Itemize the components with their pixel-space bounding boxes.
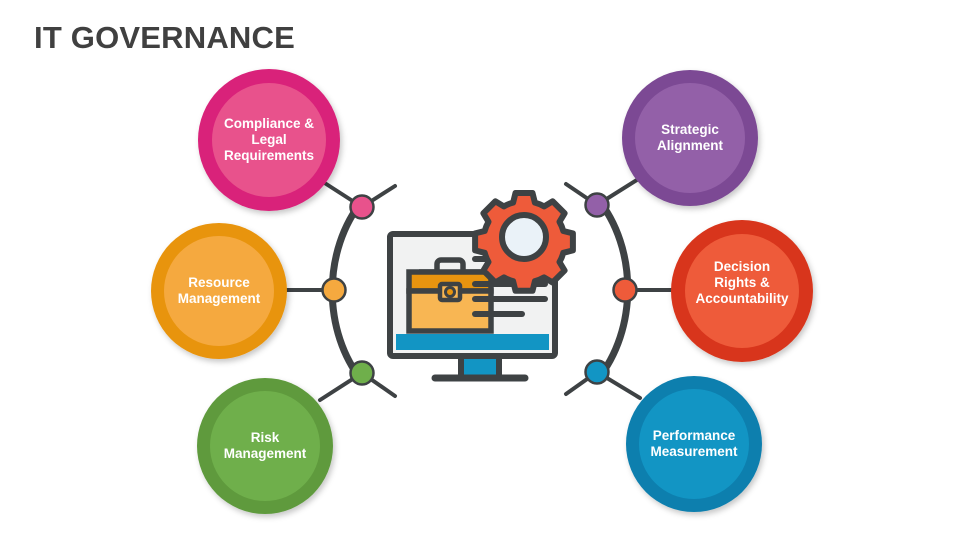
dot-compliance[interactable] bbox=[351, 196, 374, 219]
node-decision-rights-accountability[interactable] bbox=[671, 220, 813, 362]
dot-risk[interactable] bbox=[351, 362, 374, 385]
center-icon bbox=[390, 193, 573, 378]
briefcase-icon bbox=[409, 260, 491, 331]
gear-icon bbox=[475, 193, 573, 291]
slide-canvas: IT GOVERNANCE bbox=[0, 0, 960, 540]
dot-resource[interactable] bbox=[323, 279, 346, 302]
monitor-bottom-bar bbox=[396, 334, 549, 350]
node-strategic-alignment[interactable] bbox=[622, 70, 758, 206]
dot-strategic[interactable] bbox=[586, 194, 609, 217]
node-performance-measurement[interactable] bbox=[626, 376, 762, 512]
dot-performance[interactable] bbox=[586, 361, 609, 384]
dot-decision[interactable] bbox=[614, 279, 637, 302]
node-risk-management[interactable] bbox=[197, 378, 333, 514]
governance-diagram bbox=[0, 0, 960, 540]
node-resource-management[interactable] bbox=[151, 223, 287, 359]
node-compliance-legal-requirements[interactable] bbox=[198, 69, 340, 211]
